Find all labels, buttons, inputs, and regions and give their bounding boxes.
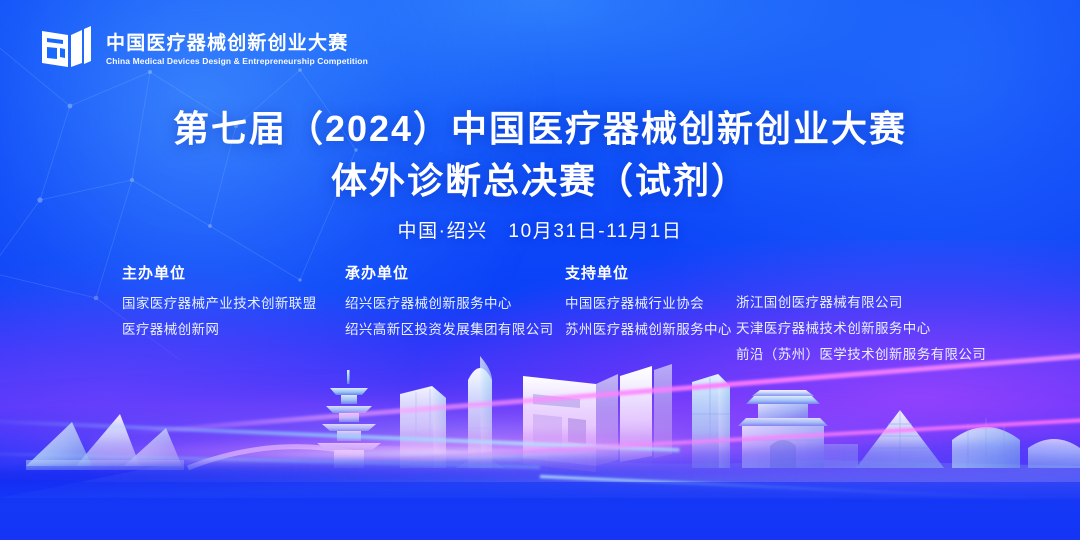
organizer-item: 前沿（苏州）医学技术创新服务有限公司: [736, 342, 986, 368]
organizer-column-supporter-extra: 浙江国创医疗器械有限公司 天津医疗器械技术创新服务中心 前沿（苏州）医学技术创新…: [736, 290, 986, 368]
organizer-item: 天津医疗器械技术创新服务中心: [736, 316, 986, 342]
organizer-column-coorganizer: 承办单位 绍兴医疗器械创新服务中心 绍兴高新区投资发展集团有限公司: [345, 262, 554, 343]
title-line-1: 第七届（2024）中国医疗器械创新创业大赛: [0, 106, 1080, 152]
base-blue-band: [0, 482, 1080, 540]
brand-name-cn: 中国医疗器械创新创业大赛: [106, 34, 368, 55]
organizer-heading: 支持单位: [565, 262, 732, 283]
organizer-item: 国家医疗器械产业技术创新联盟: [122, 291, 317, 317]
brand-lockup: 中国医疗器械创新创业大赛 China Medical Devices Desig…: [38, 22, 368, 74]
organizer-item: 浙江国创医疗器械有限公司: [736, 290, 986, 316]
organizer-heading: 承办单位: [345, 262, 554, 283]
organizer-heading: 主办单位: [122, 262, 317, 283]
title-block: 第七届（2024）中国医疗器械创新创业大赛 体外诊断总决赛（试剂）: [0, 106, 1080, 204]
organizer-item: 绍兴高新区投资发展集团有限公司: [345, 317, 554, 343]
poster-banner: 中国医疗器械创新创业大赛 China Medical Devices Desig…: [0, 0, 1080, 540]
organizer-item: 绍兴医疗器械创新服务中心: [345, 291, 554, 317]
event-location-date: 中国·绍兴 10月31日-11月1日: [0, 216, 1080, 243]
brand-name-en: China Medical Devices Design & Entrepren…: [106, 57, 368, 66]
open-book-door-logo-icon: [38, 22, 94, 74]
organizer-column-host: 主办单位 国家医疗器械产业技术创新联盟 医疗器械创新网: [122, 262, 317, 343]
organizer-item: 中国医疗器械行业协会: [565, 291, 732, 317]
brand-text: 中国医疗器械创新创业大赛 China Medical Devices Desig…: [106, 30, 368, 66]
title-line-2: 体外诊断总决赛（试剂）: [0, 158, 1080, 204]
organizer-item: 医疗器械创新网: [122, 317, 317, 343]
organizer-item: 苏州医疗器械创新服务中心: [565, 317, 732, 343]
organizers-block: 主办单位 国家医疗器械产业技术创新联盟 医疗器械创新网 承办单位 绍兴医疗器械创…: [0, 262, 1080, 362]
organizer-column-supporter: 支持单位 中国医疗器械行业协会 苏州医疗器械创新服务中心: [565, 262, 732, 343]
